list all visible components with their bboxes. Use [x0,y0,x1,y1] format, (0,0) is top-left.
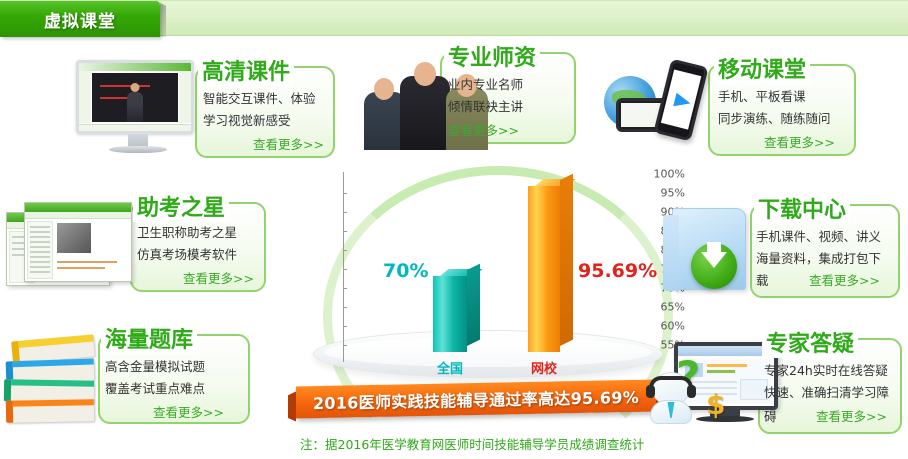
y-tick-label: 95% [641,187,685,200]
card-title: 下载中心 [754,192,850,224]
card-more-link[interactable]: 查看更多>> [764,132,835,151]
card-title: 专业师资 [444,40,540,72]
card-title: 专家答疑 [762,326,858,358]
y-tick-label: 60% [641,320,685,333]
card-line2: 同步演练、随练随问 [718,108,831,127]
card-line2: 倾情联袂主讲 [448,96,523,115]
header-tab-virtual-classroom[interactable]: 虚拟课堂 [0,1,160,37]
virtual-classroom-page: 虚拟课堂 高清课件 智能交互课件、体验 学习视觉新感受 查看更多>> [0,0,908,459]
y-tick-label: 65% [641,301,685,314]
card-line1: 业内专业名师 [448,74,523,93]
bar-national [433,276,467,352]
feature-card-exam-star[interactable]: 助考之星 卫生职称助考之星 仿真考场模考软件 查看更多>> [2,188,282,300]
bar-category-label-national: 全国 [437,358,463,377]
card-line2: 快速、准确扫清学习障 [764,382,889,401]
pass-rate-bar-chart: 100% 95% 90% 85% 80% 75% 70% 65% 60% 55%… [295,160,685,390]
card-line3: 碍 [764,406,777,425]
card-title: 助考之星 [133,190,229,222]
card-title: 海量题库 [101,322,197,354]
header-tab-label: 虚拟课堂 [44,7,116,32]
dollar-icon: $ [706,388,725,421]
card-line1: 手机课件、视频、讲义 [756,226,881,245]
card-line2: 海量资料，集成打包下 [756,248,881,267]
card-more-link[interactable]: 查看更多>> [816,406,887,425]
software-windows-thumbnail [6,198,136,294]
phone-globe-thumbnail [598,54,714,154]
page-header-bar: 虚拟课堂 [0,0,908,36]
card-title: 移动课堂 [714,52,810,84]
feature-card-hd-courseware[interactable]: 高清课件 智能交互课件、体验 学习视觉新感受 查看更多>> [70,52,340,162]
bar-value-label-online-school: 95.69% [578,260,657,282]
feature-card-professional-teachers[interactable]: 专业师资 业内专业名师 倾情联袂主讲 查看更多>> [358,36,588,154]
feature-card-expert-qa[interactable]: ? $ 专家答疑 专家24h实时在线答疑 快速、准确扫清学习障 碍 查看更多>> [648,320,906,444]
card-line1: 智能交互课件、体验 [203,88,316,107]
y-tick-label: 100% [641,168,685,181]
card-title: 高清课件 [198,54,294,86]
download-folder-icon [672,208,756,298]
bar-value-label-national: 70% [383,260,428,282]
feature-card-question-bank[interactable]: 海量题库 高含金量模拟试题 覆盖考试重点难点 查看更多>> [2,318,282,432]
card-line3: 载 [756,270,769,289]
card-line2: 学习视觉新感受 [203,110,291,129]
feature-card-mobile-classroom[interactable]: 移动课堂 手机、平板看课 同步演练、随练随问 查看更多>> [596,48,876,166]
card-line1: 专家24h实时在线答疑 [764,360,888,379]
card-more-link[interactable]: 查看更多>> [153,402,224,421]
card-line2: 覆盖考试重点难点 [105,378,205,397]
bar-online-school [528,186,560,352]
chart-footnote: 注：据2016年医学教育网医师时间技能辅导学员成绩调查统计 [300,434,644,453]
monitor-thumbnail [76,60,200,156]
card-line2: 仿真考场模考软件 [137,244,237,263]
chart-podium [313,330,663,378]
card-more-link[interactable]: 查看更多>> [809,270,880,289]
card-line1: 高含金量模拟试题 [105,356,205,375]
card-line1: 卫生职称助考之星 [137,222,237,241]
card-more-link[interactable]: 查看更多>> [253,134,324,153]
card-more-link[interactable]: 查看更多>> [448,120,519,139]
y-axis-line [343,172,344,362]
books-thumbnail [2,334,104,430]
card-line1: 手机、平板看课 [718,86,806,105]
bar-category-label-online-school: 网校 [531,358,557,377]
mascot-avatar [648,372,694,424]
card-more-link[interactable]: 查看更多>> [183,268,254,287]
banner-text: 2016医师实践技能辅导通过率高达95.69% [313,384,639,414]
feature-card-download-center[interactable]: 下载中心 手机课件、视频、讲义 海量资料，集成打包下 载 查看更多>> [654,188,904,304]
